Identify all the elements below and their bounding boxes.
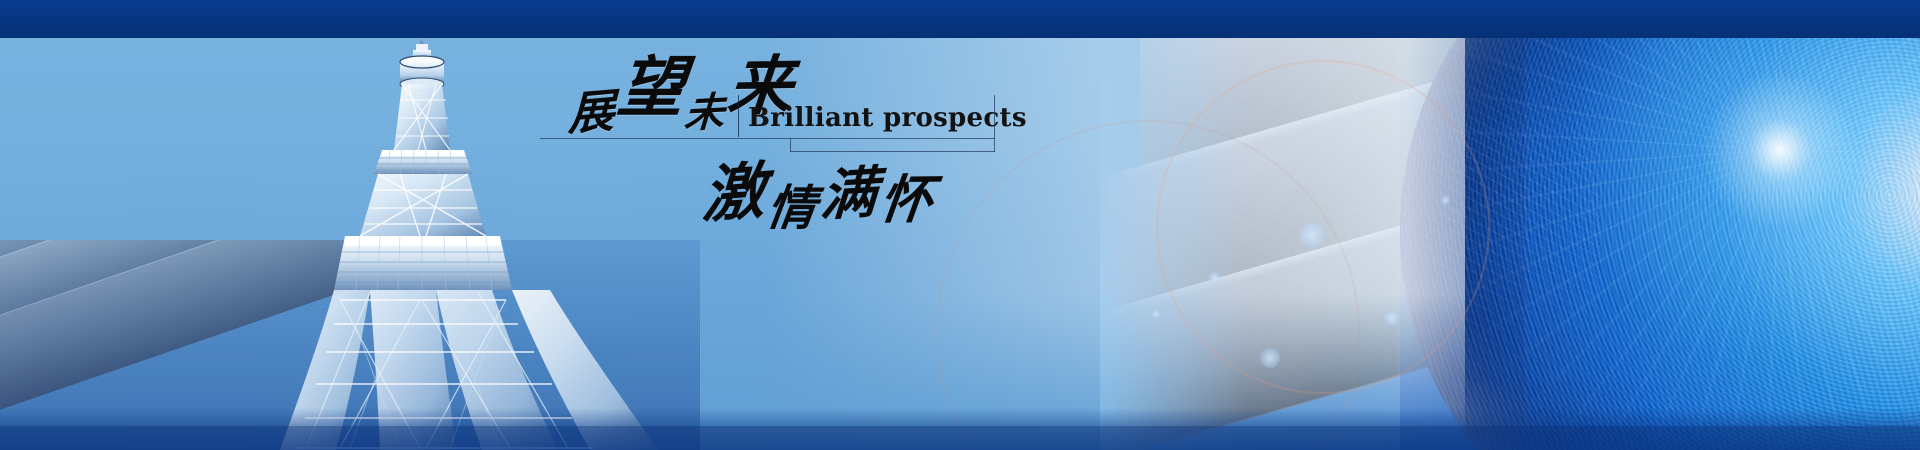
headline-rule-connector: [790, 138, 791, 152]
headline-cn2-char-2: 情: [764, 184, 822, 232]
headline-english: Brilliant prospects: [748, 103, 1027, 133]
headline-cn1-char-3: 未: [683, 92, 727, 134]
top-bar: [0, 0, 1920, 38]
bottom-bar: [0, 426, 1920, 450]
earth-globe: [1400, 0, 1920, 450]
headline-block: 展望未来 Brilliant prospects 激情满怀: [535, 55, 1015, 235]
headline-rule-left: [540, 138, 790, 139]
promotional-banner: 展望未来 Brilliant prospects 激情满怀: [0, 0, 1920, 450]
headline-rule-right-lower: [790, 151, 995, 152]
bottom-bar-fade: [0, 408, 1920, 426]
headline-rule-end-cap: [994, 95, 995, 152]
headline-cn1-char-1: 展: [568, 87, 617, 137]
headline-chinese-line-2: 激情满怀: [700, 157, 941, 225]
headline-rule-right-upper: [790, 138, 995, 139]
headline-cn2-char-4: 怀: [877, 174, 939, 226]
headline-cn1-char-2: 望: [615, 54, 690, 120]
headline-vertical-divider: [738, 95, 739, 137]
headline-cn2-char-3: 满: [819, 164, 883, 224]
globe-rim-light: [1400, 0, 1920, 450]
headline-cn2-char-1: 激: [701, 160, 770, 227]
